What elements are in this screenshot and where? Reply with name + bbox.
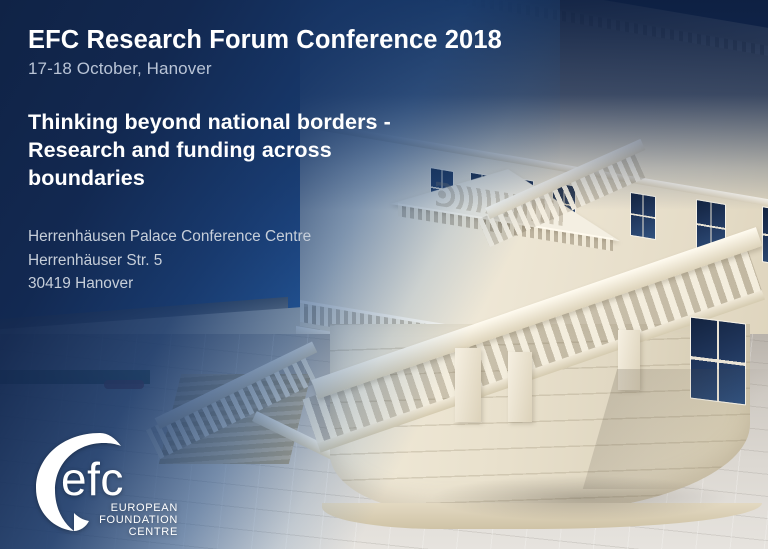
venue-street: Herrenhäuser Str. 5	[28, 249, 548, 272]
theme-line-2: Research and funding across	[28, 137, 448, 165]
ground-shadow	[430, 475, 730, 521]
efc-logo-svg: efc EUROPEAN FOUNDATION CENTRE	[26, 427, 186, 537]
window	[762, 206, 768, 268]
newel-post	[508, 352, 532, 422]
crescent-tail-icon	[74, 513, 89, 531]
flower-bed	[104, 380, 144, 389]
conference-title: EFC Research Forum Conference 2018	[28, 26, 548, 55]
logo-name-line-2: FOUNDATION	[99, 514, 178, 526]
venue-name: Herrenhäusen Palace Conference Centre	[28, 225, 548, 248]
window	[630, 192, 656, 240]
venue-address: Herrenhäusen Palace Conference Centre He…	[28, 225, 548, 295]
logo-name-line-1: EUROPEAN	[111, 502, 178, 514]
venue-city: 30419 Hanover	[28, 272, 548, 295]
newel-post	[455, 348, 481, 422]
conference-date: 17-18 October, Hanover	[28, 59, 548, 79]
efc-wordmark: efc	[61, 453, 124, 505]
conference-theme: Thinking beyond national borders - Resea…	[28, 109, 448, 193]
theme-line-3: boundaries	[28, 165, 448, 193]
conference-banner: EFC Research Forum Conference 2018 17-18…	[0, 0, 768, 549]
theme-line-1: Thinking beyond national borders -	[28, 109, 448, 137]
efc-logo: efc EUROPEAN FOUNDATION CENTRE	[26, 427, 186, 537]
banner-text-block: EFC Research Forum Conference 2018 17-18…	[28, 26, 548, 295]
logo-name-line-3: CENTRE	[129, 526, 178, 537]
